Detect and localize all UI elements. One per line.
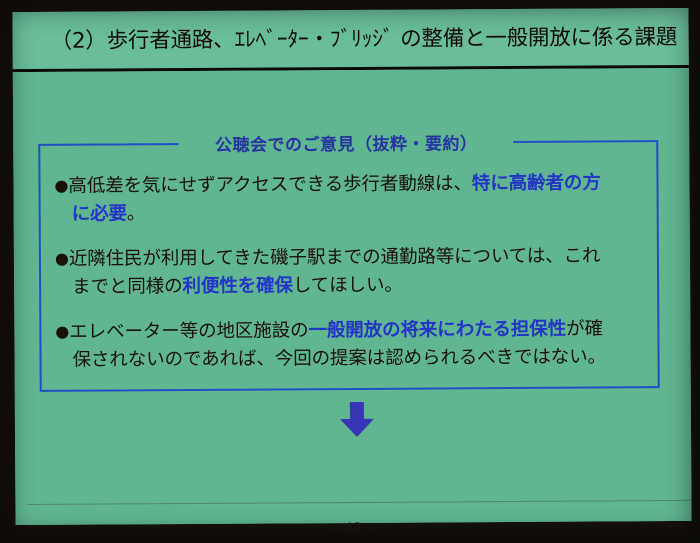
opinion-list-item: ●高低差を気にせずアクセスできる歩行者動線は、特に高齢者の方 に必要。 (54, 168, 646, 229)
slide-surface: （2）歩行者通路、ｴﾚﾍﾞｰﾀｰ・ﾌﾞﾘｯｼﾞ の整備と一般開放に係る課題 公聴… (12, 8, 691, 525)
opinion-text-highlight: 特に高齢者の方 (472, 172, 601, 194)
slide-title-band: （2）歩行者通路、ｴﾚﾍﾞｰﾀｰ・ﾌﾞﾘｯｼﾞ の整備と一般開放に係る課題 (12, 8, 688, 69)
projected-slide-photo: （2）歩行者通路、ｴﾚﾍﾞｰﾀｰ・ﾌﾞﾘｯｼﾞ の整備と一般開放に係る課題 公聴… (0, 0, 700, 543)
opinion-text-plain: までと同様の (72, 276, 183, 298)
opinion-text-plain: 近隣住民が利用してきた磯子駅までの通勤路等については、これ (69, 245, 601, 269)
opinion-box-heading: 公聴会でのご意見（抜粋・要約） (190, 129, 502, 156)
opinion-list-item: ●近隣住民が利用してきた磯子駅までの通勤路等については、これ までと同様の利便性… (55, 241, 647, 302)
bullet-marker-icon: ● (54, 176, 68, 195)
opinion-text-plain: が確 (566, 318, 603, 339)
opinion-list-item: ●エレベーター等の地区施設の一般開放の将来にわたる担保性が確 保されないのであれ… (55, 314, 647, 375)
arrow-down-icon (337, 402, 377, 438)
public-hearing-opinion-box: 公聴会でのご意見（抜粋・要約） ●高低差を気にせずアクセスできる歩行者動線は、特… (38, 140, 660, 392)
opinion-text-highlight: 一般開放の将来にわたる担保性 (308, 319, 566, 342)
slide-title: （2）歩行者通路、ｴﾚﾍﾞｰﾀｰ・ﾌﾞﾘｯｼﾞ の整備と一般開放に係る課題 (51, 20, 678, 55)
opinion-list: ●高低差を気にせずアクセスできる歩行者動線は、特に高齢者の方 に必要。 ●近隣住… (54, 168, 647, 391)
opinion-text-highlight: に必要 (72, 203, 127, 224)
opinion-text-highlight: 利便性を確保 (182, 275, 293, 297)
opinion-text-plain: 高低差を気にせずアクセスできる歩行者動線は、 (68, 173, 472, 196)
bullet-marker-icon: ● (55, 322, 69, 341)
opinion-text-plain: 。 (127, 203, 146, 224)
slide-body: 公聴会でのご意見（抜粋・要約） ●高低差を気にせずアクセスできる歩行者動線は、特… (13, 68, 692, 525)
page-number: - 42 - (16, 519, 692, 538)
footer-divider-rule (27, 500, 691, 505)
opinion-text-plain: 保されないのであれば、今回の提案は認められるべきではない。 (73, 346, 607, 370)
bullet-marker-icon: ● (55, 249, 69, 268)
opinion-text-plain: してほしい。 (293, 275, 403, 297)
opinion-text-plain: エレベーター等の地区施設の (69, 320, 308, 342)
